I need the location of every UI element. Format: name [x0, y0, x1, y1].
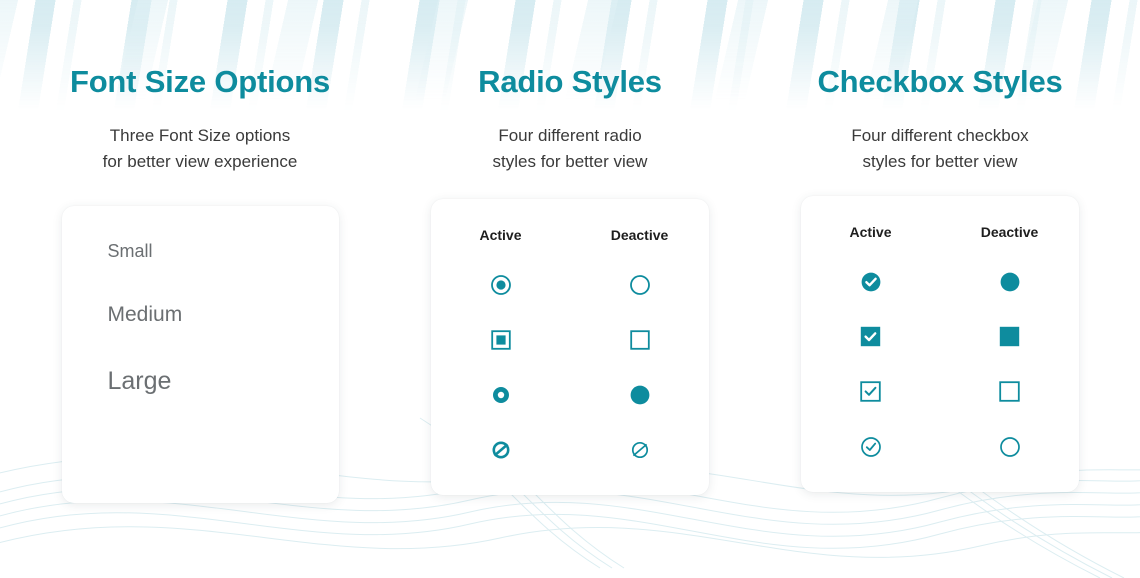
checkbox-styles-column: Checkbox Styles Four different checkbox …	[740, 0, 1140, 578]
radio-donut-icon[interactable]	[491, 385, 511, 405]
checkbox-deactive-cell-4[interactable]	[940, 422, 1079, 477]
radio-circle-slash-bold-icon[interactable]	[490, 439, 512, 461]
panel-columns: Font Size Options Three Font Size option…	[0, 0, 1140, 578]
table-row	[431, 370, 709, 425]
radio-circle-solid-icon[interactable]	[629, 384, 651, 406]
table-row	[801, 312, 1079, 367]
checkbox-styles-title: Checkbox Styles	[740, 66, 1140, 97]
subtitle-line-1: Three Font Size options	[0, 123, 400, 149]
radio-deactive-cell-3[interactable]	[570, 370, 709, 425]
checkbox-styles-card: Active Deactive	[801, 196, 1079, 492]
checkbox-active-cell-3[interactable]	[801, 367, 940, 422]
radio-styles-card: Active Deactive	[431, 199, 709, 495]
radio-square-outline-icon[interactable]	[629, 329, 651, 351]
font-size-option-small[interactable]: Small	[108, 242, 339, 260]
column-header-deactive: Deactive	[940, 224, 1079, 257]
font-size-option-medium[interactable]: Medium	[108, 304, 339, 325]
checkbox-square-filled-check-icon[interactable]	[860, 326, 881, 347]
radio-deactive-cell-4[interactable]	[570, 425, 709, 480]
font-size-options-title: Font Size Options	[0, 66, 400, 97]
checkbox-active-cell-4[interactable]	[801, 422, 940, 477]
checkbox-circle-outline-icon[interactable]	[999, 436, 1021, 458]
table-row	[801, 257, 1079, 312]
subtitle-line-1: Four different radio	[400, 123, 740, 149]
checkbox-circle-outline-check-icon[interactable]	[860, 436, 882, 458]
radio-circle-slash-outline-icon[interactable]	[629, 439, 651, 461]
column-header-active: Active	[801, 224, 940, 257]
font-size-options-subtitle: Three Font Size options for better view …	[0, 123, 400, 175]
radio-active-cell-1[interactable]	[431, 260, 570, 315]
font-size-options-column: Font Size Options Three Font Size option…	[0, 0, 400, 578]
radio-styles-column: Radio Styles Four different radio styles…	[400, 0, 740, 578]
radio-deactive-cell-1[interactable]	[570, 260, 709, 315]
checkbox-deactive-cell-3[interactable]	[940, 367, 1079, 422]
radio-active-cell-2[interactable]	[431, 315, 570, 370]
checkbox-active-cell-1[interactable]	[801, 257, 940, 312]
table-header-row: Active Deactive	[431, 227, 709, 260]
font-size-option-large[interactable]: Large	[108, 369, 339, 394]
column-header-active: Active	[431, 227, 570, 260]
subtitle-line-2: for better view experience	[0, 149, 400, 175]
table-row	[431, 315, 709, 370]
table-row	[801, 422, 1079, 477]
checkbox-deactive-cell-2[interactable]	[940, 312, 1079, 367]
checkbox-deactive-cell-1[interactable]	[940, 257, 1079, 312]
subtitle-line-2: styles for better view	[400, 149, 740, 175]
radio-circle-filled-dot-icon[interactable]	[490, 274, 512, 296]
table-header-row: Active Deactive	[801, 224, 1079, 257]
table-row	[431, 260, 709, 315]
checkbox-styles-table: Active Deactive	[801, 224, 1079, 477]
subtitle-line-1: Four different checkbox	[740, 123, 1140, 149]
checkbox-circle-solid-icon[interactable]	[999, 271, 1021, 293]
checkbox-square-outline-icon[interactable]	[999, 381, 1020, 402]
radio-active-cell-4[interactable]	[431, 425, 570, 480]
subtitle-line-2: styles for better view	[740, 149, 1140, 175]
checkbox-square-outline-check-icon[interactable]	[860, 381, 881, 402]
font-size-options-card: Small Medium Large	[62, 206, 339, 503]
radio-styles-title: Radio Styles	[400, 66, 740, 97]
radio-deactive-cell-2[interactable]	[570, 315, 709, 370]
checkbox-circle-filled-check-icon[interactable]	[860, 271, 882, 293]
radio-styles-subtitle: Four different radio styles for better v…	[400, 123, 740, 175]
column-header-deactive: Deactive	[570, 227, 709, 260]
radio-square-filled-inner-icon[interactable]	[490, 329, 512, 351]
checkbox-square-solid-icon[interactable]	[999, 326, 1020, 347]
table-row	[801, 367, 1079, 422]
checkbox-styles-subtitle: Four different checkbox styles for bette…	[740, 123, 1140, 175]
table-row	[431, 425, 709, 480]
radio-circle-outline-icon[interactable]	[629, 274, 651, 296]
checkbox-active-cell-2[interactable]	[801, 312, 940, 367]
radio-styles-table: Active Deactive	[431, 227, 709, 480]
radio-active-cell-3[interactable]	[431, 370, 570, 425]
